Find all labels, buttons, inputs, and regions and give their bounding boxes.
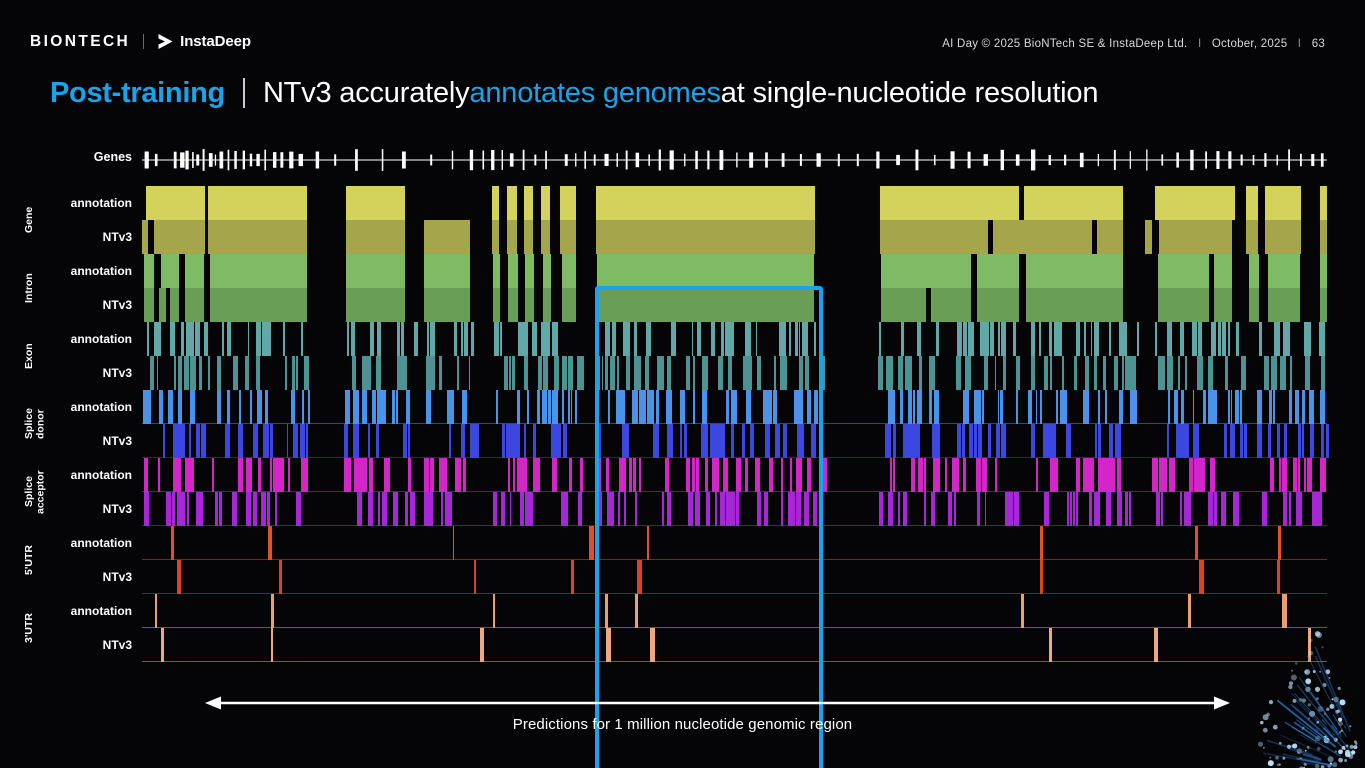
track-segment: [248, 458, 252, 492]
meta-separator-1: I: [1191, 38, 1208, 50]
track-row: [142, 322, 1327, 356]
track-segment: [256, 424, 258, 458]
track-segment: [962, 424, 965, 458]
track-segment: [1005, 492, 1007, 526]
header-meta: AI Day © 2025 BioNTech SE & InstaDeep Lt…: [942, 38, 1325, 50]
track-segment: [1066, 424, 1071, 458]
track-segment: [146, 186, 205, 220]
track-segment: [405, 492, 409, 526]
track-segment: [639, 390, 644, 424]
track-segment: [1320, 322, 1325, 356]
track-row-label-ntv3: NTv3: [103, 220, 132, 254]
track-segment: [906, 424, 911, 458]
track-segment: [512, 356, 516, 390]
track-segment: [171, 390, 174, 424]
track-labels-column: Genes GeneannotationNTv3Intronannotation…: [0, 140, 142, 700]
track-segment: [377, 322, 381, 356]
track-segment: [968, 322, 973, 356]
track-segment: [1246, 186, 1258, 220]
track-segment: [680, 390, 684, 424]
track-segment: [1155, 186, 1234, 220]
track-segment: [1050, 356, 1052, 390]
track-segment: [178, 390, 182, 424]
track-segment: [1044, 356, 1049, 390]
track-segment: [807, 390, 812, 424]
track-segment: [525, 492, 530, 526]
track-segment: [1040, 560, 1044, 594]
track-segment: [562, 356, 567, 390]
track-row: [142, 458, 1327, 492]
track-segment: [1032, 356, 1035, 390]
track-segment: [922, 458, 924, 492]
track-segment: [903, 492, 908, 526]
track-segment: [372, 390, 375, 424]
track-segment: [881, 254, 971, 288]
track-segment: [1309, 390, 1313, 424]
track-segment: [239, 390, 241, 424]
track-segment: [245, 356, 249, 390]
track-segment: [606, 628, 611, 662]
track-segment: [1304, 458, 1306, 492]
track-segment: [1119, 322, 1124, 356]
track-segment: [998, 390, 999, 424]
track-segment: [346, 220, 405, 254]
track-segment: [805, 356, 808, 390]
track-segment: [496, 390, 498, 424]
track-segment: [888, 492, 891, 526]
track-segment: [357, 492, 362, 526]
track-segment: [278, 458, 283, 492]
track-segment: [144, 254, 154, 288]
track-segment: [764, 492, 769, 526]
track-segment: [952, 458, 954, 492]
track-segment: [898, 492, 900, 526]
track-segment: [192, 322, 195, 356]
track-segment: [270, 458, 273, 492]
track-segment: [270, 424, 273, 458]
gene-ideogram-track: [142, 140, 1327, 180]
track-segment: [1236, 322, 1240, 356]
track-segment: [726, 390, 729, 424]
track-row-label-annotation: annotation: [71, 594, 132, 628]
track-segment: [577, 356, 581, 390]
track-segment: [702, 390, 707, 424]
track-segment: [352, 356, 356, 390]
track-segment: [1159, 220, 1233, 254]
track-segment: [494, 322, 498, 356]
track-segment: [1268, 288, 1300, 322]
track-segment: [261, 492, 266, 526]
track-segment: [353, 390, 359, 424]
track-segment: [517, 390, 520, 424]
track-segment: [392, 390, 395, 424]
track-segment: [155, 594, 157, 628]
track-segment: [161, 254, 179, 288]
track-segment: [958, 322, 962, 356]
track-segment: [1176, 424, 1179, 458]
track-segment: [727, 492, 730, 526]
track-segment: [463, 458, 467, 492]
track-segment: [1174, 390, 1178, 424]
track-segment: [607, 492, 612, 526]
track-row: [142, 390, 1327, 424]
track-segment: [1214, 288, 1232, 322]
track-row: [142, 594, 1327, 628]
track-segment: [402, 356, 407, 390]
track-segment: [783, 424, 788, 458]
track-segment: [406, 390, 410, 424]
track-row: [142, 254, 1327, 288]
track-segment: [1297, 390, 1299, 424]
track-segment: [508, 458, 511, 492]
track-segment: [507, 220, 517, 254]
track-segment: [666, 390, 671, 424]
track-segment: [988, 424, 991, 458]
track-segment: [1225, 356, 1228, 390]
track-segment: [184, 356, 189, 390]
track-segment: [159, 390, 163, 424]
brand-lockup: BIONTECH InstaDeep: [30, 33, 251, 50]
track-segment: [177, 560, 182, 594]
track-segment: [151, 356, 154, 390]
track-segment: [596, 220, 815, 254]
title-divider: [243, 78, 245, 108]
track-segment: [525, 288, 535, 322]
track-segment: [257, 390, 259, 424]
track-segment: [154, 220, 205, 254]
track-segment: [351, 322, 355, 356]
genes-track-label: Genes: [94, 150, 132, 164]
track-segment: [449, 390, 454, 424]
track-segment: [250, 390, 252, 424]
track-segment: [781, 492, 783, 526]
track-segment: [279, 560, 282, 594]
track-segment: [253, 492, 258, 526]
track-segment: [569, 458, 572, 492]
track-segment: [147, 322, 149, 356]
track-segment: [692, 322, 694, 356]
track-segment: [811, 424, 816, 458]
track-segment: [195, 322, 197, 356]
track-segment: [555, 322, 557, 356]
track-segment: [542, 390, 548, 424]
track-segment: [1031, 322, 1035, 356]
track-segment: [346, 288, 405, 322]
track-segment: [1095, 424, 1097, 458]
track-segment: [493, 288, 500, 322]
track-segment: [1119, 390, 1123, 424]
track-segment: [1094, 356, 1098, 390]
track-segment: [890, 458, 892, 492]
track-segment: [605, 356, 607, 390]
track-segment: [1320, 390, 1325, 424]
track-segment: [784, 356, 787, 390]
track-segment: [227, 390, 230, 424]
track-segment: [189, 322, 192, 356]
track-segment: [256, 322, 261, 356]
track-segment: [768, 390, 772, 424]
track-segment: [635, 492, 637, 526]
track-segment: [917, 322, 920, 356]
track-segment: [880, 186, 1019, 220]
track-segment: [1320, 288, 1327, 322]
track-segment: [171, 526, 174, 560]
track-segment: [645, 356, 649, 390]
track-segment: [524, 186, 534, 220]
track-segment: [1282, 458, 1287, 492]
track-segment: [189, 424, 191, 458]
track-segment: [185, 254, 204, 288]
track-segment: [1089, 492, 1093, 526]
track-segment: [647, 390, 652, 424]
track-segment: [210, 254, 307, 288]
track-segment: [524, 356, 528, 390]
track-segment: [1298, 458, 1301, 492]
track-segment: [344, 424, 348, 458]
track-segment: [932, 356, 935, 390]
track-segment: [598, 424, 600, 458]
track-segment: [301, 458, 306, 492]
track-segment: [142, 220, 148, 254]
track-segment: [924, 458, 926, 492]
track-segment: [1257, 424, 1262, 458]
track-segment: [560, 186, 575, 220]
track-segment: [580, 458, 584, 492]
track-segment: [159, 322, 161, 356]
track-segment: [1158, 254, 1209, 288]
track-segment: [378, 492, 380, 526]
track-segment: [619, 458, 623, 492]
track-segment: [692, 458, 695, 492]
track-segment: [982, 458, 987, 492]
track-segment: [564, 492, 568, 526]
track-segment: [398, 356, 402, 390]
track-segment: [1111, 458, 1116, 492]
track-segment: [705, 458, 708, 492]
track-segment: [424, 220, 470, 254]
track-segment: [357, 424, 359, 458]
track-segment: [161, 628, 164, 662]
track-segment: [1039, 322, 1041, 356]
track-segment: [561, 492, 563, 526]
track-segment: [799, 458, 802, 492]
track-segment: [602, 356, 604, 390]
track-segment: [632, 390, 635, 424]
track-segment: [686, 356, 690, 390]
track-segment: [347, 322, 349, 356]
track-segment: [745, 322, 747, 356]
track-segment: [1125, 492, 1128, 526]
track-segment: [208, 356, 210, 390]
track-row-label-annotation: annotation: [71, 526, 132, 560]
track-segment: [731, 424, 734, 458]
track-segment: [524, 424, 526, 458]
track-row-label-annotation: annotation: [71, 458, 132, 492]
track-segment: [667, 492, 671, 526]
track-segment: [157, 356, 159, 390]
track-segment: [911, 458, 915, 492]
track-segment: [890, 390, 895, 424]
track-segment: [262, 322, 267, 356]
track-segment: [1305, 356, 1311, 390]
track-row: [142, 356, 1327, 390]
track-segment: [215, 492, 218, 526]
date-text: October, 2025: [1212, 38, 1288, 50]
track-segment: [302, 390, 304, 424]
track-segment: [769, 458, 773, 492]
track-segment: [1302, 390, 1306, 424]
track-segment: [1192, 322, 1197, 356]
track-segment: [790, 458, 792, 492]
track-segment: [1156, 492, 1160, 526]
track-segment: [665, 458, 669, 492]
track-segment: [893, 458, 895, 492]
track-segment: [1235, 390, 1238, 424]
track-segment: [924, 492, 926, 526]
track-segment: [563, 424, 567, 458]
track-segment: [721, 322, 724, 356]
track-segment: [929, 390, 932, 424]
track-segment: [1277, 560, 1280, 594]
track-segment: [653, 424, 658, 458]
meta-separator-2: I: [1291, 38, 1308, 50]
track-segment: [296, 356, 298, 390]
track-segment: [736, 492, 739, 526]
track-segment: [283, 322, 285, 356]
track-segment: [657, 356, 662, 390]
track-segment: [803, 322, 808, 356]
track-segment: [1001, 322, 1006, 356]
track-segment: [193, 390, 195, 424]
track-segment: [543, 288, 551, 322]
track-segment: [1244, 424, 1247, 458]
track-row-label-annotation: annotation: [71, 254, 132, 288]
track-segment: [453, 526, 455, 560]
track-segment: [1001, 424, 1005, 458]
track-segment: [726, 322, 729, 356]
track-segment: [1076, 492, 1078, 526]
track-segment: [187, 492, 190, 526]
track-segment: [597, 254, 814, 288]
track-segment: [1117, 424, 1121, 458]
track-row: [142, 288, 1327, 322]
track-segment: [1321, 424, 1325, 458]
track-segment: [1062, 356, 1065, 390]
track-segment: [763, 390, 768, 424]
track-segment: [906, 356, 911, 390]
track-segment: [788, 492, 791, 526]
track-group-label-splice-donor: Splice donor: [24, 390, 47, 458]
track-segment: [680, 424, 682, 458]
track-segment: [622, 424, 626, 458]
track-segment: [723, 458, 727, 492]
track-segment: [513, 458, 515, 492]
track-segment: [217, 356, 220, 390]
track-segment: [1211, 322, 1214, 356]
track-segment: [506, 424, 511, 458]
track-segment: [474, 560, 476, 594]
track-segment: [522, 458, 527, 492]
track-segment: [492, 220, 499, 254]
track-segment: [686, 458, 691, 492]
track-row-label-ntv3: NTv3: [103, 424, 132, 458]
track-segment: [368, 424, 370, 458]
track-segment: [493, 594, 495, 628]
track-segment: [1016, 356, 1020, 390]
track-segment: [1050, 458, 1053, 492]
track-segment: [158, 458, 160, 492]
track-segment: [368, 492, 373, 526]
track-row: [142, 186, 1327, 220]
track-segment: [275, 492, 277, 526]
track-segment: [1181, 390, 1184, 424]
track-segment: [308, 390, 311, 424]
track-segment: [493, 254, 500, 288]
track-segment: [232, 492, 237, 526]
track-segment: [1088, 458, 1093, 492]
track-segment: [543, 356, 548, 390]
track-segment: [185, 458, 190, 492]
track-segment: [263, 424, 269, 458]
track-segment: [362, 458, 367, 492]
track-segment: [822, 458, 827, 492]
track-row-label-ntv3: NTv3: [103, 356, 132, 390]
track-segment: [697, 322, 701, 356]
track-segment: [524, 220, 534, 254]
track-segment: [178, 356, 182, 390]
copyright-text: AI Day © 2025 BioNTech SE & InstaDeep Lt…: [942, 38, 1187, 50]
track-segment: [814, 390, 818, 424]
track-segment: [1279, 458, 1282, 492]
track-segment: [1159, 458, 1163, 492]
track-segment: [397, 322, 400, 356]
track-segment: [929, 356, 931, 390]
track-segment: [984, 356, 987, 390]
track-segment: [562, 254, 576, 288]
track-segment: [376, 424, 380, 458]
track-segment: [504, 356, 506, 390]
track-row-label-ntv3: NTv3: [103, 492, 132, 526]
track-segment: [571, 390, 573, 424]
track-segment: [575, 390, 577, 424]
track-segment: [1076, 458, 1080, 492]
track-segment: [743, 356, 748, 390]
track-segment: [568, 390, 571, 424]
track-segment: [982, 390, 984, 424]
track-segment: [501, 492, 503, 526]
track-segment: [693, 390, 695, 424]
track-segment: [464, 322, 468, 356]
track-segment: [508, 288, 518, 322]
track-segment: [430, 458, 434, 492]
track-segment: [424, 458, 429, 492]
track-segment: [461, 424, 464, 458]
track-segment: [346, 254, 405, 288]
track-segment: [227, 322, 231, 356]
track-segment: [1076, 322, 1081, 356]
track-segment: [629, 458, 631, 492]
track-segment: [1036, 390, 1038, 424]
track-segment: [442, 458, 447, 492]
track-segment: [781, 458, 783, 492]
track-row: [142, 628, 1327, 662]
track-segment: [265, 390, 268, 424]
track-segment: [948, 492, 950, 526]
track-segment: [204, 322, 208, 356]
track-segment: [1014, 492, 1019, 526]
track-segment: [185, 288, 204, 322]
track-row: [142, 560, 1327, 594]
